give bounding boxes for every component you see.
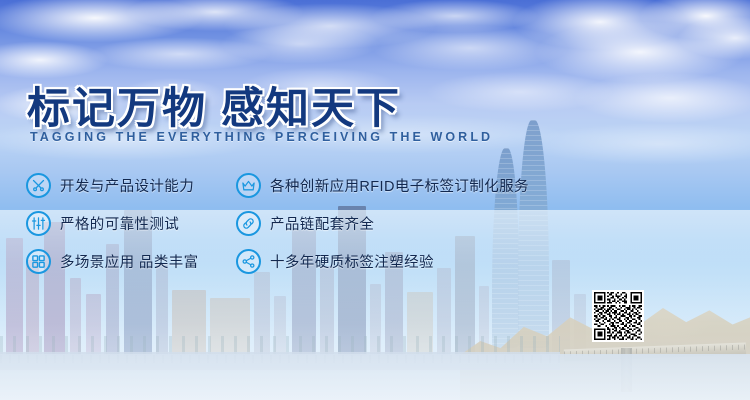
feature-item: 开发与产品设计能力 <box>26 166 199 204</box>
pier-pylon <box>621 348 632 392</box>
water-surface <box>0 354 750 400</box>
feature-label: 各种创新应用RFID电子标签订制化服务 <box>270 175 529 196</box>
feature-label: 多场景应用 品类丰富 <box>60 251 199 272</box>
qr-code[interactable] <box>592 290 644 342</box>
pier-bridge <box>564 343 746 362</box>
palm-tree-row <box>0 336 560 358</box>
crown-icon <box>236 173 261 198</box>
grid-icon <box>26 249 51 274</box>
share-icon <box>236 249 261 274</box>
feature-label: 开发与产品设计能力 <box>60 175 194 196</box>
feature-column-left: 开发与产品设计能力 严格的可靠性测试 <box>26 166 199 280</box>
feature-list: 开发与产品设计能力 严格的可靠性测试 <box>0 166 750 276</box>
feature-column-right: 各种创新应用RFID电子标签订制化服务 产品链配套齐全 <box>236 166 529 280</box>
page-subtitle: TAGGING THE EVERYTHING PERCEIVING THE WO… <box>30 130 493 144</box>
feature-item: 产品链配套齐全 <box>236 204 529 242</box>
feature-label: 产品链配套齐全 <box>270 213 374 234</box>
feature-item: 十多年硬质标签注塑经验 <box>236 242 529 280</box>
feature-item: 多场景应用 品类丰富 <box>26 242 199 280</box>
tools-icon <box>26 173 51 198</box>
feature-item: 严格的可靠性测试 <box>26 204 199 242</box>
feature-label: 严格的可靠性测试 <box>60 213 179 234</box>
link-icon <box>236 211 261 236</box>
page-title: 标记万物 感知天下 <box>27 74 401 136</box>
feature-item: 各种创新应用RFID电子标签订制化服务 <box>236 166 529 204</box>
sliders-icon <box>26 211 51 236</box>
waterfront-quay <box>0 352 560 370</box>
feature-label: 十多年硬质标签注塑经验 <box>270 251 434 272</box>
promo-banner: 标记万物 感知天下 TAGGING THE EVERYTHING PERCEIV… <box>0 0 750 400</box>
